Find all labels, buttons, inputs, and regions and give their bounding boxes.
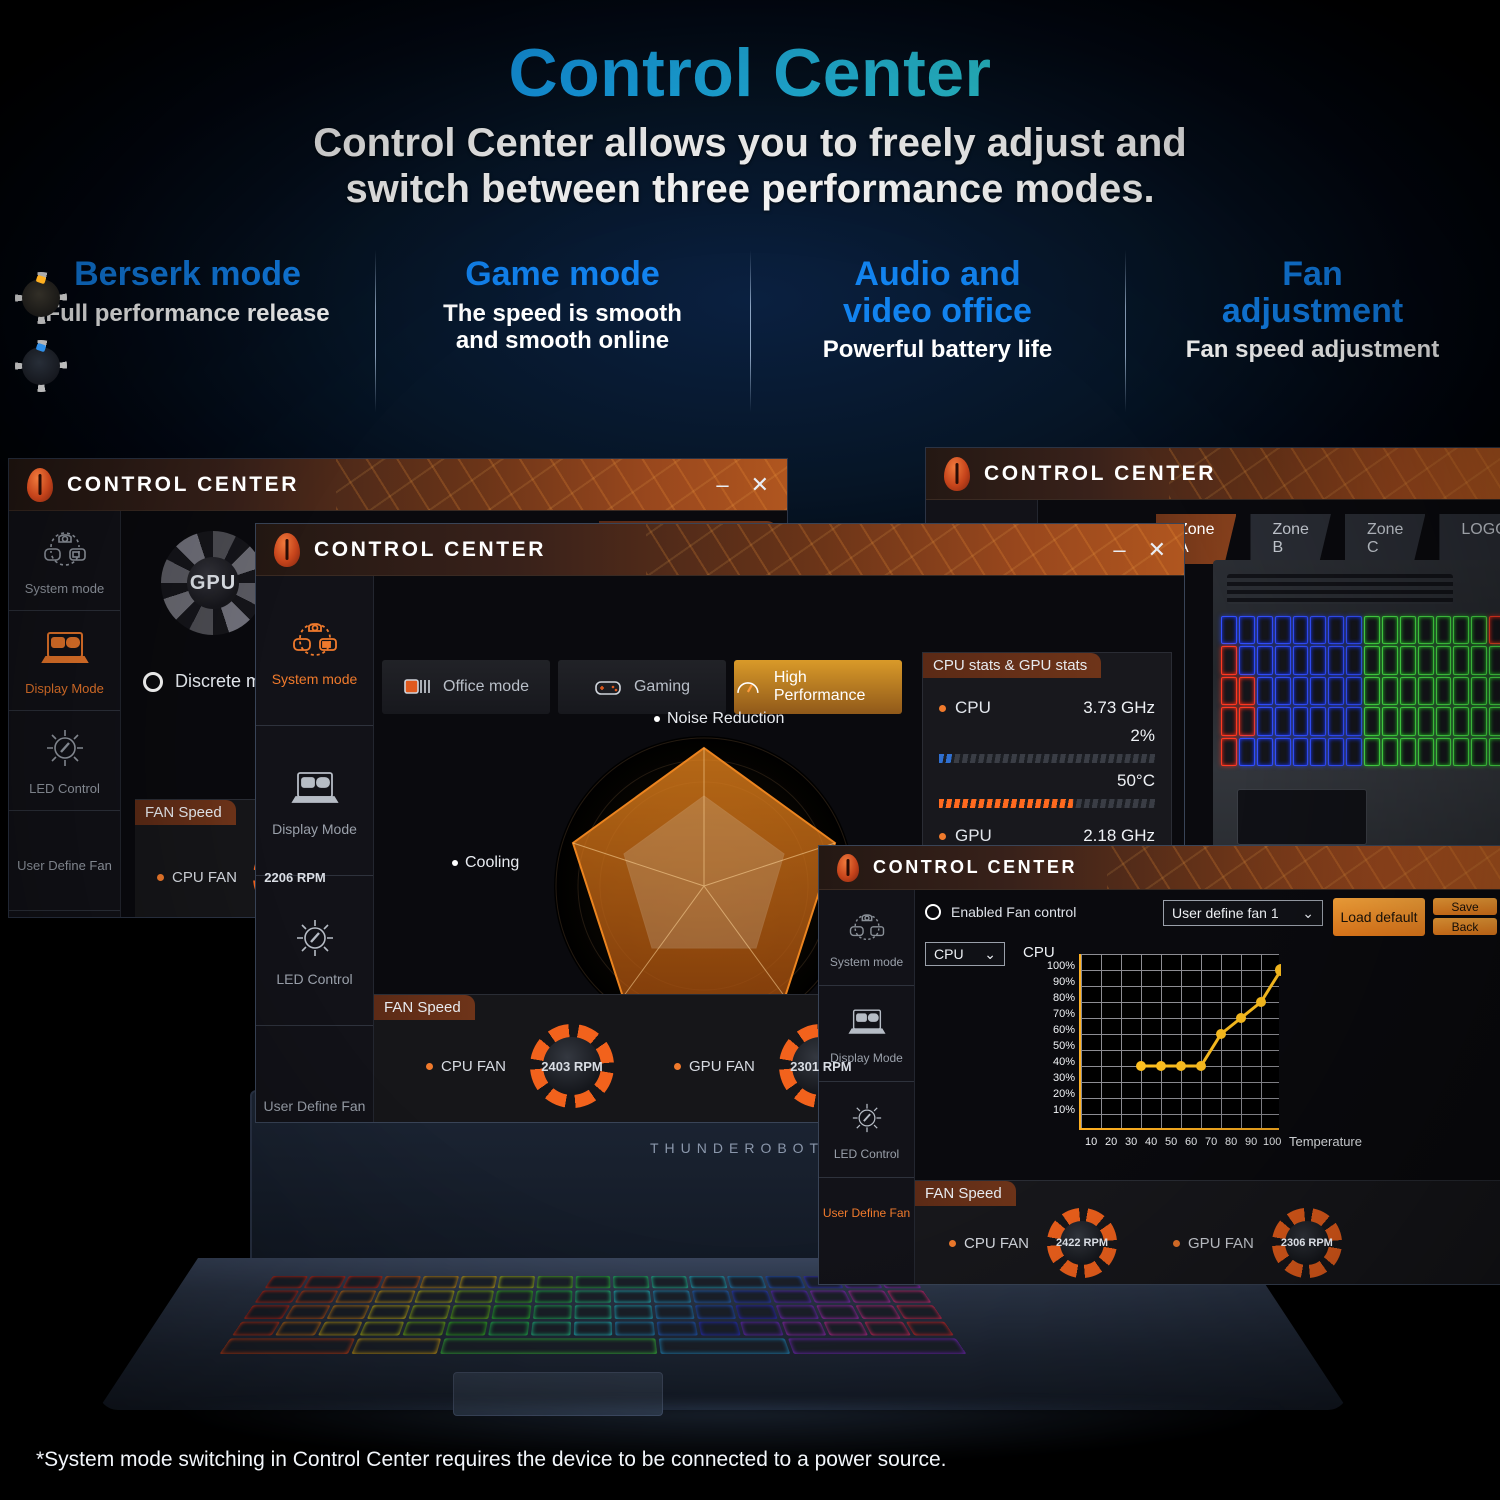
sidebar-item-display-mode[interactable]: Display Mode: [256, 726, 373, 876]
sidebar-item-label: Display Mode: [25, 681, 104, 696]
cpu-fan-label: CPU FAN: [964, 1235, 1029, 1252]
gpu-fan-wheel: 2306 RPM: [1272, 1208, 1342, 1278]
sidebar-item-label: LED Control: [29, 781, 100, 796]
display-mode-icon: [845, 1003, 889, 1041]
control-center-window-user-define-fan[interactable]: CONTROL CENTER System mode: [818, 845, 1500, 1285]
sidebar-item-label: LED Control: [834, 1147, 899, 1161]
office-mode-icon: [403, 676, 431, 698]
cpu-fan-rpm: 2422 RPM: [1056, 1237, 1108, 1249]
save-button[interactable]: Save: [1433, 898, 1497, 915]
feature-subtitle: The speed is smooth and smooth online: [375, 301, 750, 355]
fan-speed-panel: FAN Speed CPU FAN 2422 RPM GPU FAN 2306: [915, 1180, 1500, 1285]
fan-source-value: CPU: [934, 946, 964, 962]
feature-subtitle-line-1: The speed is smooth: [375, 301, 750, 328]
gauge-tip: [36, 343, 47, 352]
sidebar-item-led-control[interactable]: LED Control: [819, 1082, 914, 1178]
cpu-temp-row: 50°C: [923, 767, 1171, 795]
title-bar: CONTROL CENTER: [819, 846, 1500, 890]
sidebar-item-user-define-fan[interactable]: User Define Fan: [9, 811, 120, 911]
fan-profile-value: User define fan 1: [1172, 905, 1279, 921]
cpu-usage-value: 2%: [1130, 726, 1155, 746]
fan-source-select[interactable]: CPU ⌄: [925, 942, 1005, 966]
cpu-fan-legend: CPU FAN: [949, 1235, 1029, 1252]
tab-zone-b[interactable]: Zone B: [1250, 514, 1330, 564]
radar-axis-label-cooling: Cooling: [452, 854, 519, 872]
ram-gauge-icon: [15, 272, 67, 324]
sidebar[interactable]: System mode Display Mode: [256, 576, 374, 1123]
minimize-icon[interactable]: –: [1113, 537, 1125, 563]
ssd-gauge-icon: [15, 340, 67, 392]
title-bar: CONTROL CENTER: [926, 448, 1500, 500]
feature-title-line-1: Audio and: [750, 256, 1125, 293]
chevron-down-icon: ⌄: [984, 946, 996, 963]
stats-panel-title: CPU stats & GPU stats: [923, 653, 1101, 678]
feature-berserk-mode: Berserk mode Full performance release: [0, 250, 375, 420]
legend-dot-icon: [426, 1063, 433, 1070]
close-icon[interactable]: ✕: [1148, 537, 1166, 563]
close-icon[interactable]: ✕: [751, 472, 769, 498]
cpu-usage-row: 2%: [923, 722, 1171, 750]
system-mode-icon: [287, 615, 343, 661]
tab-gaming[interactable]: Gaming: [558, 660, 726, 714]
sidebar-item-display-mode[interactable]: Display Mode: [9, 611, 120, 711]
feature-title: Fan adjustment: [1125, 256, 1500, 329]
gpu-fan-legend: GPU FAN: [1173, 1235, 1254, 1252]
app-logo-icon: [274, 533, 300, 567]
display-mode-icon: [37, 625, 93, 671]
cpu-label: CPU: [955, 698, 991, 718]
cpu-temp-value: 50°C: [1117, 771, 1155, 791]
bullet-icon: [654, 716, 660, 722]
sidebar-item-user-define-fan[interactable]: User Define Fan: [256, 1026, 373, 1123]
feature-title: Game mode: [375, 256, 750, 293]
sidebar-item-label: User Define Fan: [17, 858, 112, 873]
radar-axis-label-noise-reduction: Noise Reduction: [654, 710, 784, 728]
window-buttons[interactable]: – ✕: [1113, 537, 1166, 563]
feature-title-line-2: adjustment: [1125, 293, 1500, 330]
sidebar-item-label: System mode: [272, 671, 358, 687]
feature-subtitle: Powerful battery life: [750, 337, 1125, 364]
sidebar-item-label: LED Control: [276, 971, 352, 987]
bullet-icon: [452, 860, 458, 866]
system-mode-icon: [845, 907, 889, 945]
app-logo-icon: [944, 457, 970, 491]
radio-ring-icon: [925, 904, 941, 920]
gpu-badge-label: GPU: [190, 572, 236, 595]
laptop-keyboard: [219, 1276, 966, 1354]
feature-audio-video-office: Audio and video office Powerful battery …: [750, 250, 1125, 420]
keyboard-vent: [1227, 574, 1453, 604]
gauge-tip: [36, 275, 47, 284]
app-title: CONTROL CENTER: [984, 462, 1216, 486]
fan-speed-panel-title: FAN Speed: [135, 800, 236, 825]
sidebar-item-label: System mode: [25, 581, 104, 596]
sidebar-item-led-control[interactable]: LED Control: [9, 711, 120, 811]
sidebar-item-led-control[interactable]: LED Control: [256, 876, 373, 1026]
tab-high-performance[interactable]: High Performance: [734, 660, 902, 714]
fan-curve-svg: [1081, 954, 1281, 1130]
gpu-label-group: GPU: [939, 826, 992, 846]
gpu-fan-rpm: 2306 RPM: [1281, 1237, 1333, 1249]
page-title: Control Center: [0, 0, 1500, 109]
sidebar[interactable]: System mode Display Mode: [819, 890, 915, 1285]
cpu-fan-label: CPU FAN: [172, 869, 237, 886]
app-title: CONTROL CENTER: [67, 473, 299, 497]
tab-zone-c[interactable]: Zone C: [1345, 514, 1425, 564]
gpu-fan-graphic: GPU: [161, 531, 265, 635]
led-control-icon: [37, 725, 93, 771]
page-subtitle: Control Center allows you to freely adju…: [0, 121, 1500, 212]
tab-label: Gaming: [634, 678, 690, 696]
legend-dot-icon: [1173, 1240, 1180, 1247]
gpu-fan-legend: GPU FAN: [674, 1058, 755, 1075]
gpu-fan-label: GPU FAN: [1188, 1235, 1254, 1252]
gauge-icon: [734, 676, 762, 698]
performance-mode-tabs[interactable]: Office mode Gaming: [382, 660, 902, 714]
app-title: CONTROL CENTER: [314, 538, 546, 562]
cpu-fan-rpm: 2403 RPM: [541, 1059, 602, 1074]
feature-subtitle-line-2: and smooth online: [375, 328, 750, 355]
radio-ring-icon: [143, 672, 163, 692]
cpu-usage-bar: [939, 754, 1155, 763]
keyboard-preview-image: [1213, 560, 1500, 855]
cpu-clock-row: CPU 3.73 GHz: [923, 694, 1171, 722]
zone-tabs[interactable]: Zone A Zone B Zone C LOGO Trunk: [1156, 514, 1500, 564]
tab-label: Office mode: [443, 678, 529, 696]
back-button[interactable]: Back: [1433, 918, 1497, 935]
feature-title: Audio and video office: [750, 256, 1125, 329]
subtitle-line-2: switch between three performance modes.: [0, 167, 1500, 213]
display-mode-icon: [287, 765, 343, 811]
keyboard-rgb-keys: [1221, 616, 1500, 766]
gpu-label: GPU: [955, 826, 992, 846]
gamepad-icon: [594, 676, 622, 698]
chart-plot-area[interactable]: [1079, 954, 1279, 1130]
cpu-temp-bar: [939, 799, 1155, 808]
circuit-pattern-decoration: [1169, 448, 1500, 499]
gpu-fan-rpm: 2301 RPM: [790, 1059, 851, 1074]
sidebar-item-label: User Define Fan: [823, 1206, 910, 1220]
feature-subtitle: Fan speed adjustment: [1125, 337, 1500, 364]
keyboard-touchpad: [1237, 789, 1367, 845]
cpu-fan-wheel: 2403 RPM: [530, 1024, 614, 1108]
cpu-fan-label: CPU FAN: [441, 1058, 506, 1075]
footnote: *System mode switching in Control Center…: [36, 1448, 946, 1472]
app-logo-icon: [27, 468, 53, 502]
cpu-clock-value: 3.73 GHz: [1083, 698, 1155, 718]
axis-label-text: Noise Reduction: [667, 710, 784, 728]
fan-curve-chart[interactable]: 100% 90% 80% 70% 60% 50% 40% 30% 20% 10%…: [1033, 950, 1333, 1165]
title-bar: CONTROL CENTER – ✕: [256, 524, 1184, 576]
sidebar-item-system-mode[interactable]: System mode: [9, 511, 120, 611]
cpu-fan-legend: CPU FAN: [157, 869, 237, 886]
window-buttons[interactable]: – ✕: [716, 472, 769, 498]
chevron-down-icon: ⌄: [1302, 905, 1314, 922]
gpu-clock-value: 2.18 GHz: [1083, 826, 1155, 846]
title-bar: CONTROL CENTER – ✕: [9, 459, 787, 511]
tab-logo[interactable]: LOGO: [1439, 514, 1500, 564]
window-body: System mode Display Mode: [819, 890, 1500, 1285]
bullet-icon: [939, 833, 946, 840]
feature-fan-adjustment: Fan adjustment Fan speed adjustment: [1125, 250, 1500, 420]
feature-title-line-1: Fan: [1125, 256, 1500, 293]
feature-title-line-2: video office: [750, 293, 1125, 330]
fan-toolbar: Enabled Fan control User define fan 1 ⌄ …: [925, 900, 1494, 946]
laptop-brand-label: THUNDEROBOT: [650, 1140, 824, 1156]
cpu-label-group: CPU: [939, 698, 991, 718]
sidebar[interactable]: System mode Display Mode: [9, 511, 121, 918]
subtitle-line-1: Control Center allows you to freely adju…: [0, 121, 1500, 167]
fan-profile-select[interactable]: User define fan 1 ⌄: [1163, 900, 1323, 926]
sidebar-item-user-define-fan[interactable]: User Define Fan: [819, 1178, 914, 1238]
cpu-fan-wheel: 2422 RPM: [1047, 1208, 1117, 1278]
feature-columns: Berserk mode Full performance release Ga…: [0, 250, 1500, 420]
load-default-button[interactable]: Load default: [1333, 898, 1425, 936]
legend-dot-icon: [674, 1063, 681, 1070]
sidebar-item-label: System mode: [830, 955, 903, 969]
legend-dot-icon: [157, 874, 164, 881]
minimize-icon[interactable]: –: [716, 472, 728, 498]
enable-fan-control-toggle[interactable]: Enabled Fan control: [925, 904, 1076, 920]
header: Control Center Control Center allows you…: [0, 0, 1500, 230]
feature-game-mode: Game mode The speed is smooth and smooth…: [375, 250, 750, 420]
system-mode-icon: [37, 525, 93, 571]
fan-speed-panel-title: FAN Speed: [915, 1181, 1016, 1206]
enable-fan-control-label: Enabled Fan control: [951, 904, 1076, 920]
circuit-pattern-decoration: [646, 524, 1184, 575]
gpu-fan-label: GPU FAN: [689, 1058, 755, 1075]
led-control-icon: [287, 915, 343, 961]
app-logo-icon: [837, 854, 859, 882]
cpu-fan-rpm: 2206 RPM: [264, 870, 325, 885]
circuit-pattern-decoration: [1107, 846, 1500, 889]
sidebar-item-system-mode[interactable]: System mode: [819, 890, 914, 986]
axis-label-text: Cooling: [465, 854, 519, 872]
tab-label: High Performance: [774, 669, 902, 705]
sidebar-item-label: Display Mode: [272, 821, 357, 837]
tab-office-mode[interactable]: Office mode: [382, 660, 550, 714]
bullet-icon: [939, 705, 946, 712]
cpu-fan-legend: CPU FAN: [426, 1058, 506, 1075]
sidebar-item-system-mode[interactable]: System mode: [256, 576, 373, 726]
content-area: Enabled Fan control User define fan 1 ⌄ …: [915, 890, 1500, 1285]
led-control-icon: [845, 1099, 889, 1137]
app-title: CONTROL CENTER: [873, 857, 1077, 878]
sidebar-item-label: User Define Fan: [264, 1098, 366, 1114]
fan-speed-panel-title: FAN Speed: [374, 995, 475, 1020]
legend-dot-icon: [949, 1240, 956, 1247]
